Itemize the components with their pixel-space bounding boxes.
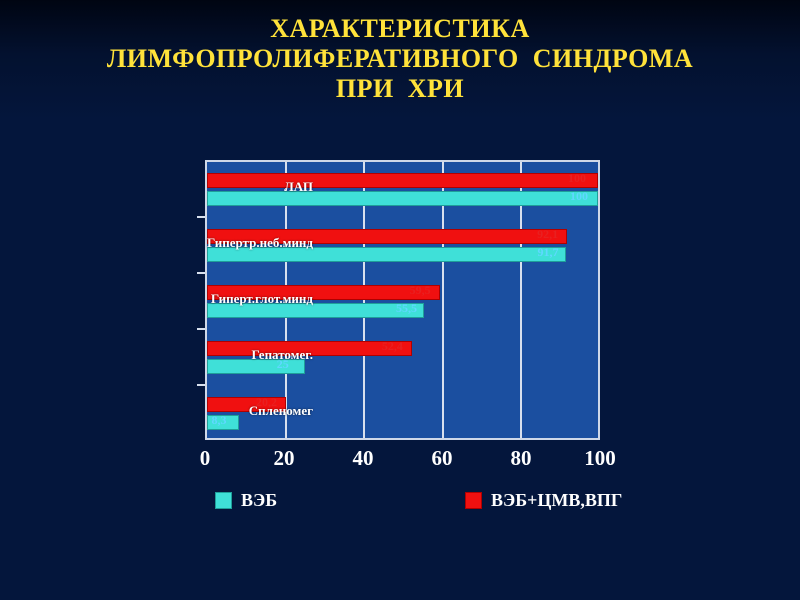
chart-legend: ВЭБВЭБ+ЦМВ,ВПГ: [215, 490, 635, 520]
x-tick-label: 80: [511, 446, 532, 471]
x-tick-label: 60: [432, 446, 453, 471]
title-line-1: ХАРАКТЕРИСТИКА: [0, 14, 800, 44]
axis-tick: [197, 216, 205, 218]
bar-value-label: 100: [570, 189, 588, 204]
axis-tick: [197, 272, 205, 274]
x-tick-label: 0: [200, 446, 211, 471]
bar-series-2: [207, 173, 598, 188]
category-label: Гиперт.глот.минд: [211, 291, 313, 307]
axis-tick: [197, 384, 205, 386]
legend-label: ВЭБ+ЦМВ,ВПГ: [491, 490, 622, 511]
bar-value-label: 8,3: [211, 413, 226, 428]
slide: ХАРАКТЕРИСТИКА ЛИМФОПРОЛИФЕРАТИВНОГО СИН…: [0, 0, 800, 600]
bar-value-label: 55,5: [396, 301, 417, 316]
legend-swatch-icon: [215, 492, 232, 509]
x-tick-label: 40: [353, 446, 374, 471]
bar-group: 100100: [207, 162, 598, 218]
legend-label: ВЭБ: [241, 490, 277, 511]
bar-value-label: 59,5: [410, 283, 431, 298]
category-label: ЛАП: [284, 179, 313, 195]
title-line-2: ЛИМФОПРОЛИФЕРАТИВНОГО СИНДРОМА: [0, 44, 800, 74]
legend-item[interactable]: ВЭБ: [215, 490, 277, 511]
category-label: Гепатомег.: [252, 347, 313, 363]
category-label: Гипертр.неб.минд: [207, 235, 313, 251]
legend-swatch-icon: [465, 492, 482, 509]
x-tick-label: 20: [274, 446, 295, 471]
legend-item[interactable]: ВЭБ+ЦМВ,ВПГ: [465, 490, 622, 511]
bar-series-1: [207, 191, 598, 206]
bar-chart: 10010092,191,759,555,552,42520,28,3 ЛАПГ…: [95, 150, 715, 550]
category-label: Спленомег: [249, 403, 313, 419]
bar-value-label: 52,4: [382, 339, 403, 354]
x-tick-label: 100: [584, 446, 616, 471]
bar-value-label: 91,7: [538, 245, 559, 260]
bar-value-label: 100: [568, 171, 586, 186]
x-axis: 020406080100: [205, 446, 600, 472]
axis-tick: [197, 328, 205, 330]
bar-value-label: 92,1: [537, 227, 558, 242]
page-title: ХАРАКТЕРИСТИКА ЛИМФОПРОЛИФЕРАТИВНОГО СИН…: [0, 14, 800, 104]
title-line-3: ПРИ ХРИ: [0, 74, 800, 104]
